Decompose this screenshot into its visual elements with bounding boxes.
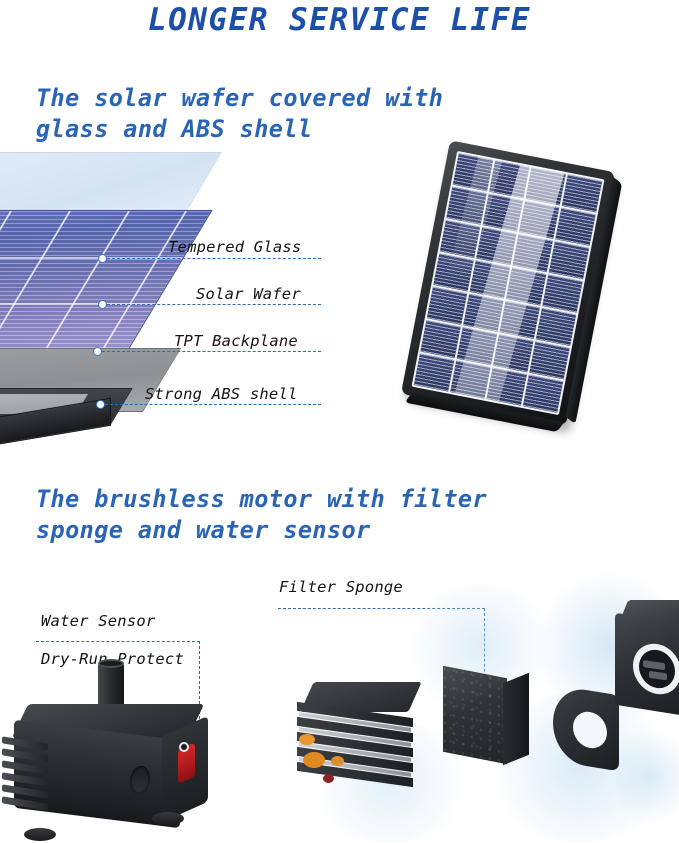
leader-line-abs-shell — [105, 404, 321, 405]
pump-outlet-opening — [98, 659, 124, 668]
motor-heading-line-2: sponge and water sensor — [36, 515, 556, 546]
solar-cell — [506, 268, 546, 306]
solar-cell — [523, 375, 563, 413]
solar-section-heading: The solar wafer covered with glass and A… — [36, 83, 536, 145]
sponge-texture — [443, 666, 507, 764]
solar-cell — [489, 160, 529, 198]
solar-panel-photo — [400, 148, 650, 426]
solar-cell — [487, 368, 527, 406]
solar-cell — [493, 335, 533, 373]
wafer-cell-texture — [0, 211, 211, 351]
filter-sponge-side — [503, 673, 529, 766]
solar-cell — [476, 227, 516, 265]
pump-gasket-ring — [553, 690, 619, 766]
leader-dot-abs-shell — [96, 400, 105, 409]
pump-intake-slot — [2, 796, 48, 810]
leader-line-tempered-glass — [107, 258, 321, 259]
solar-cell — [556, 208, 596, 246]
leader-line-water-sensor — [36, 641, 200, 642]
leader-line-solar-wafer — [107, 304, 321, 305]
impeller-blade — [649, 671, 667, 681]
pump-suction-foot — [24, 828, 56, 841]
trapped-debris — [299, 734, 315, 745]
solar-cell — [536, 308, 576, 346]
solar-cell — [440, 220, 480, 258]
motor-heading-line-1: The brushless motor with filter — [36, 484, 556, 515]
solar-cell — [543, 275, 583, 313]
page-title: LONGER SERVICE LIFE — [0, 2, 679, 38]
callout-tempered-glass: Tempered Glass — [168, 238, 301, 256]
leader-dot-tempered-glass — [98, 254, 107, 263]
solar-cell — [549, 241, 589, 279]
solar-cell — [414, 354, 454, 392]
pump-suction-foot — [152, 812, 184, 825]
solar-cell — [530, 342, 570, 380]
solar-cell — [420, 320, 460, 358]
solar-cell — [470, 261, 510, 299]
leader-line-tpt-backplane — [102, 351, 321, 352]
filter-sponge-face — [443, 666, 507, 764]
solar-cell — [427, 287, 467, 325]
callout-tpt-backplane: TPT Backplane — [174, 332, 298, 350]
infographic-canvas: LONGER SERVICE LIFE The solar wafer cove… — [0, 0, 679, 843]
solar-cell — [519, 201, 559, 239]
solar-panel-rotated — [401, 140, 615, 425]
brushless-motor-body — [615, 600, 679, 718]
solar-cell — [483, 194, 523, 232]
solar-cell — [500, 301, 540, 339]
abs-shell-layer — [0, 388, 138, 468]
solar-cell — [446, 187, 486, 225]
solar-cell — [453, 153, 493, 191]
pump-photo — [2, 660, 232, 843]
filter-sponge — [443, 672, 531, 762]
water-splash — [615, 722, 679, 832]
solar-cell — [433, 254, 473, 292]
solar-heading-line-1: The solar wafer covered with — [36, 83, 536, 114]
solar-cell — [513, 234, 553, 272]
pump-intake-slots — [2, 740, 50, 818]
solar-cell — [562, 174, 602, 212]
trapped-debris — [303, 752, 325, 768]
solar-cell — [450, 361, 490, 399]
motor-section-heading: The brushless motor with filter sponge a… — [36, 484, 556, 546]
solar-wafer-layer — [0, 210, 213, 352]
pump-outlet-spout — [98, 662, 124, 708]
impeller-blade — [643, 660, 665, 670]
motor-exploded-photo — [285, 572, 679, 843]
trapped-debris — [323, 774, 334, 783]
trapped-debris — [331, 756, 344, 766]
leader-dot-tpt-backplane — [93, 347, 102, 356]
solar-cell — [457, 328, 497, 366]
solar-heading-line-2: glass and ABS shell — [36, 114, 536, 145]
water-sensor-indicator — [179, 742, 189, 752]
leader-dot-solar-wafer — [98, 300, 107, 309]
callout-abs-shell: Strong ABS shell — [145, 385, 298, 403]
filter-housing — [297, 682, 421, 798]
callout-solar-wafer: Solar Wafer — [196, 285, 301, 303]
solar-cell — [463, 294, 503, 332]
solar-cell — [526, 167, 566, 205]
callout-water-sensor: Water Sensor — [41, 612, 155, 630]
